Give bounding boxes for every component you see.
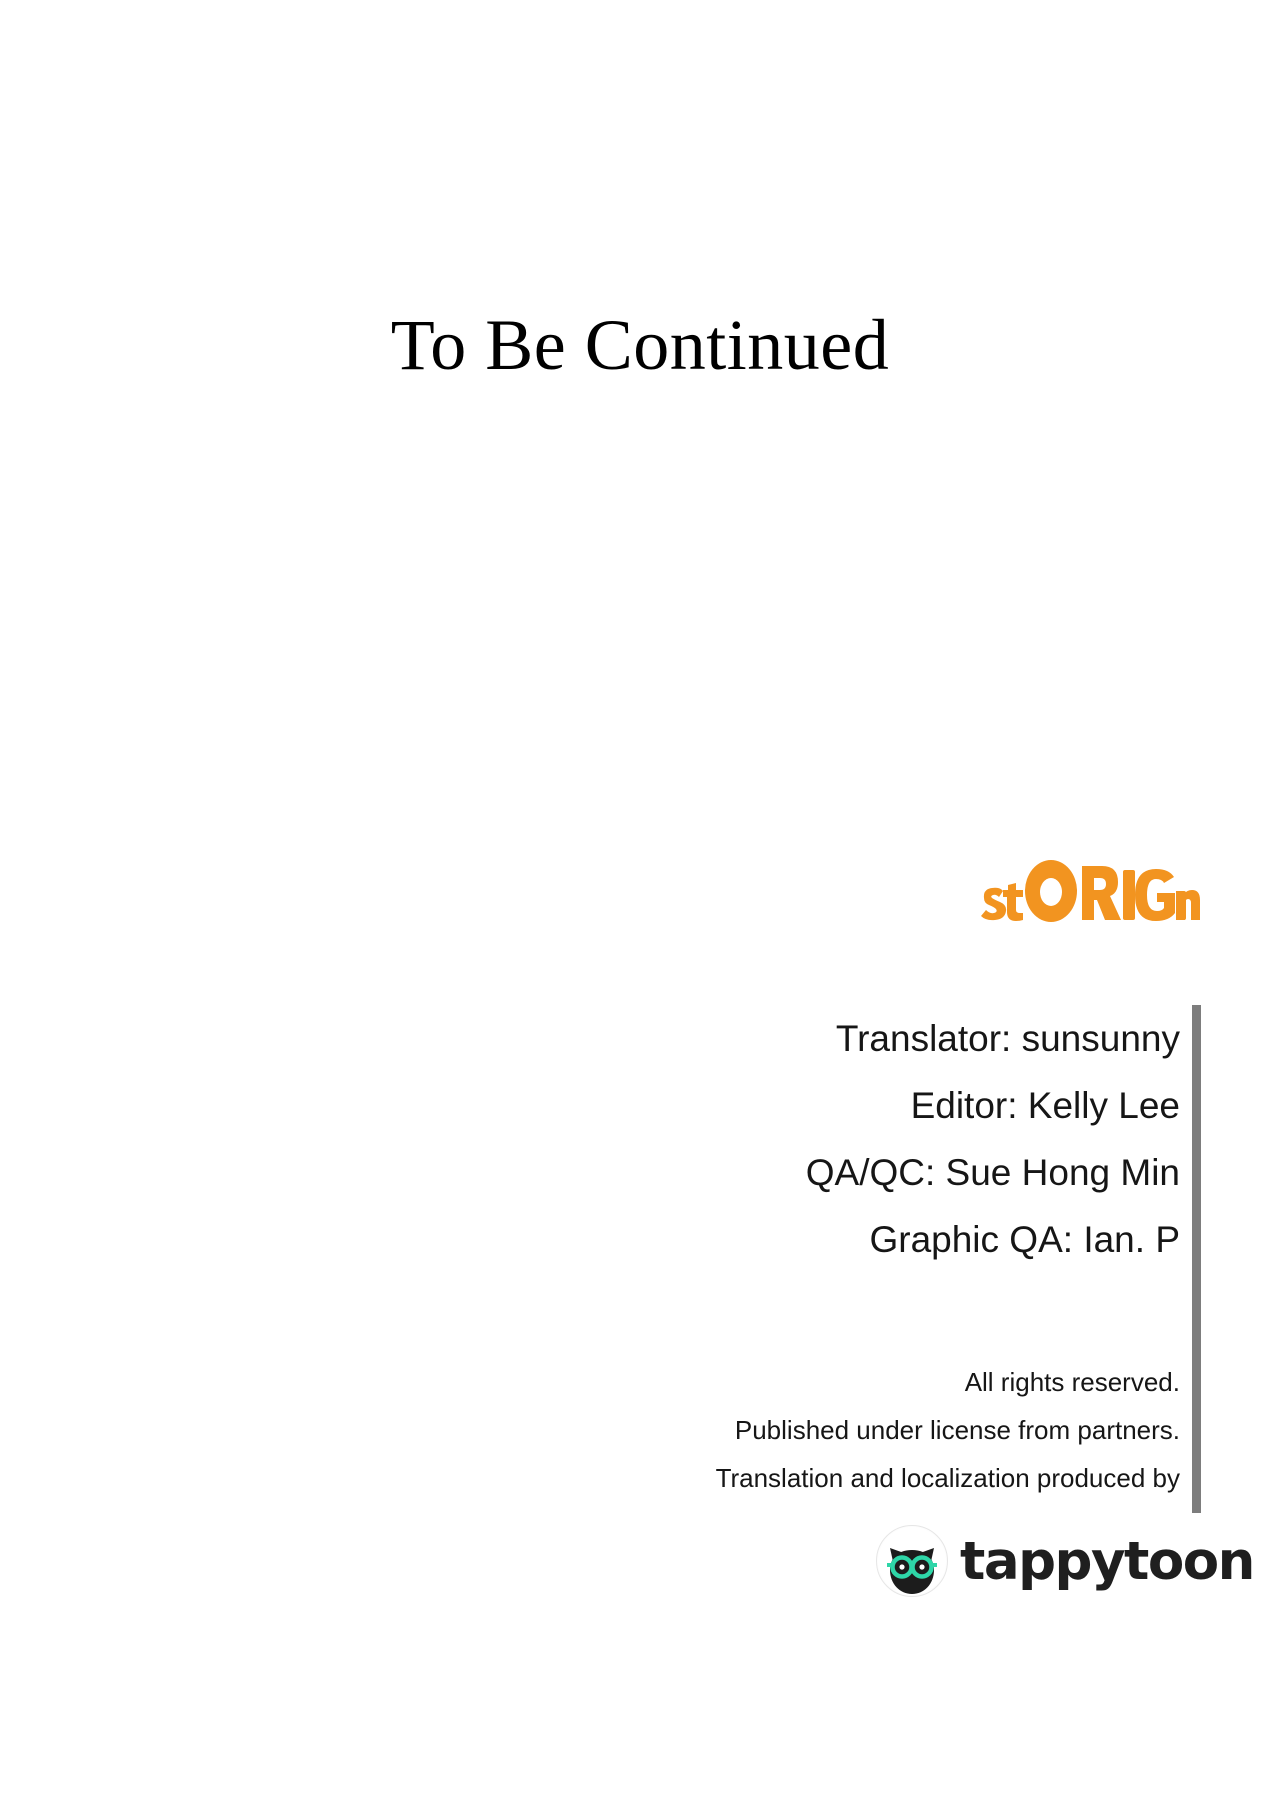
credit-line-translator: Translator: sunsunny (480, 1005, 1180, 1072)
cat-with-glasses-icon (876, 1525, 948, 1597)
to-be-continued-title: To Be Continued (0, 300, 1280, 390)
credit-divider (1192, 1005, 1201, 1513)
rights-line-produced-by: Translation and localization produced by (380, 1454, 1180, 1502)
rights-line-license: Published under license from partners. (380, 1406, 1180, 1454)
rights-block: All rights reserved. Published under lic… (380, 1358, 1180, 1502)
credit-line-editor: Editor: Kelly Lee (480, 1072, 1180, 1139)
tappytoon-logo: tappytoon (876, 1522, 1196, 1600)
rights-line-reserved: All rights reserved. (380, 1358, 1180, 1406)
credits-block: Translator: sunsunny Editor: Kelly Lee Q… (480, 1005, 1180, 1273)
credit-line-graphic-qa: Graphic QA: Ian. P (480, 1206, 1180, 1273)
comic-end-page: To Be Continued (0, 0, 1280, 1800)
tappytoon-wordmark: tappytoon (960, 1535, 1254, 1588)
storigin-logo (978, 858, 1202, 924)
credit-line-qaqc: QA/QC: Sue Hong Min (480, 1139, 1180, 1206)
